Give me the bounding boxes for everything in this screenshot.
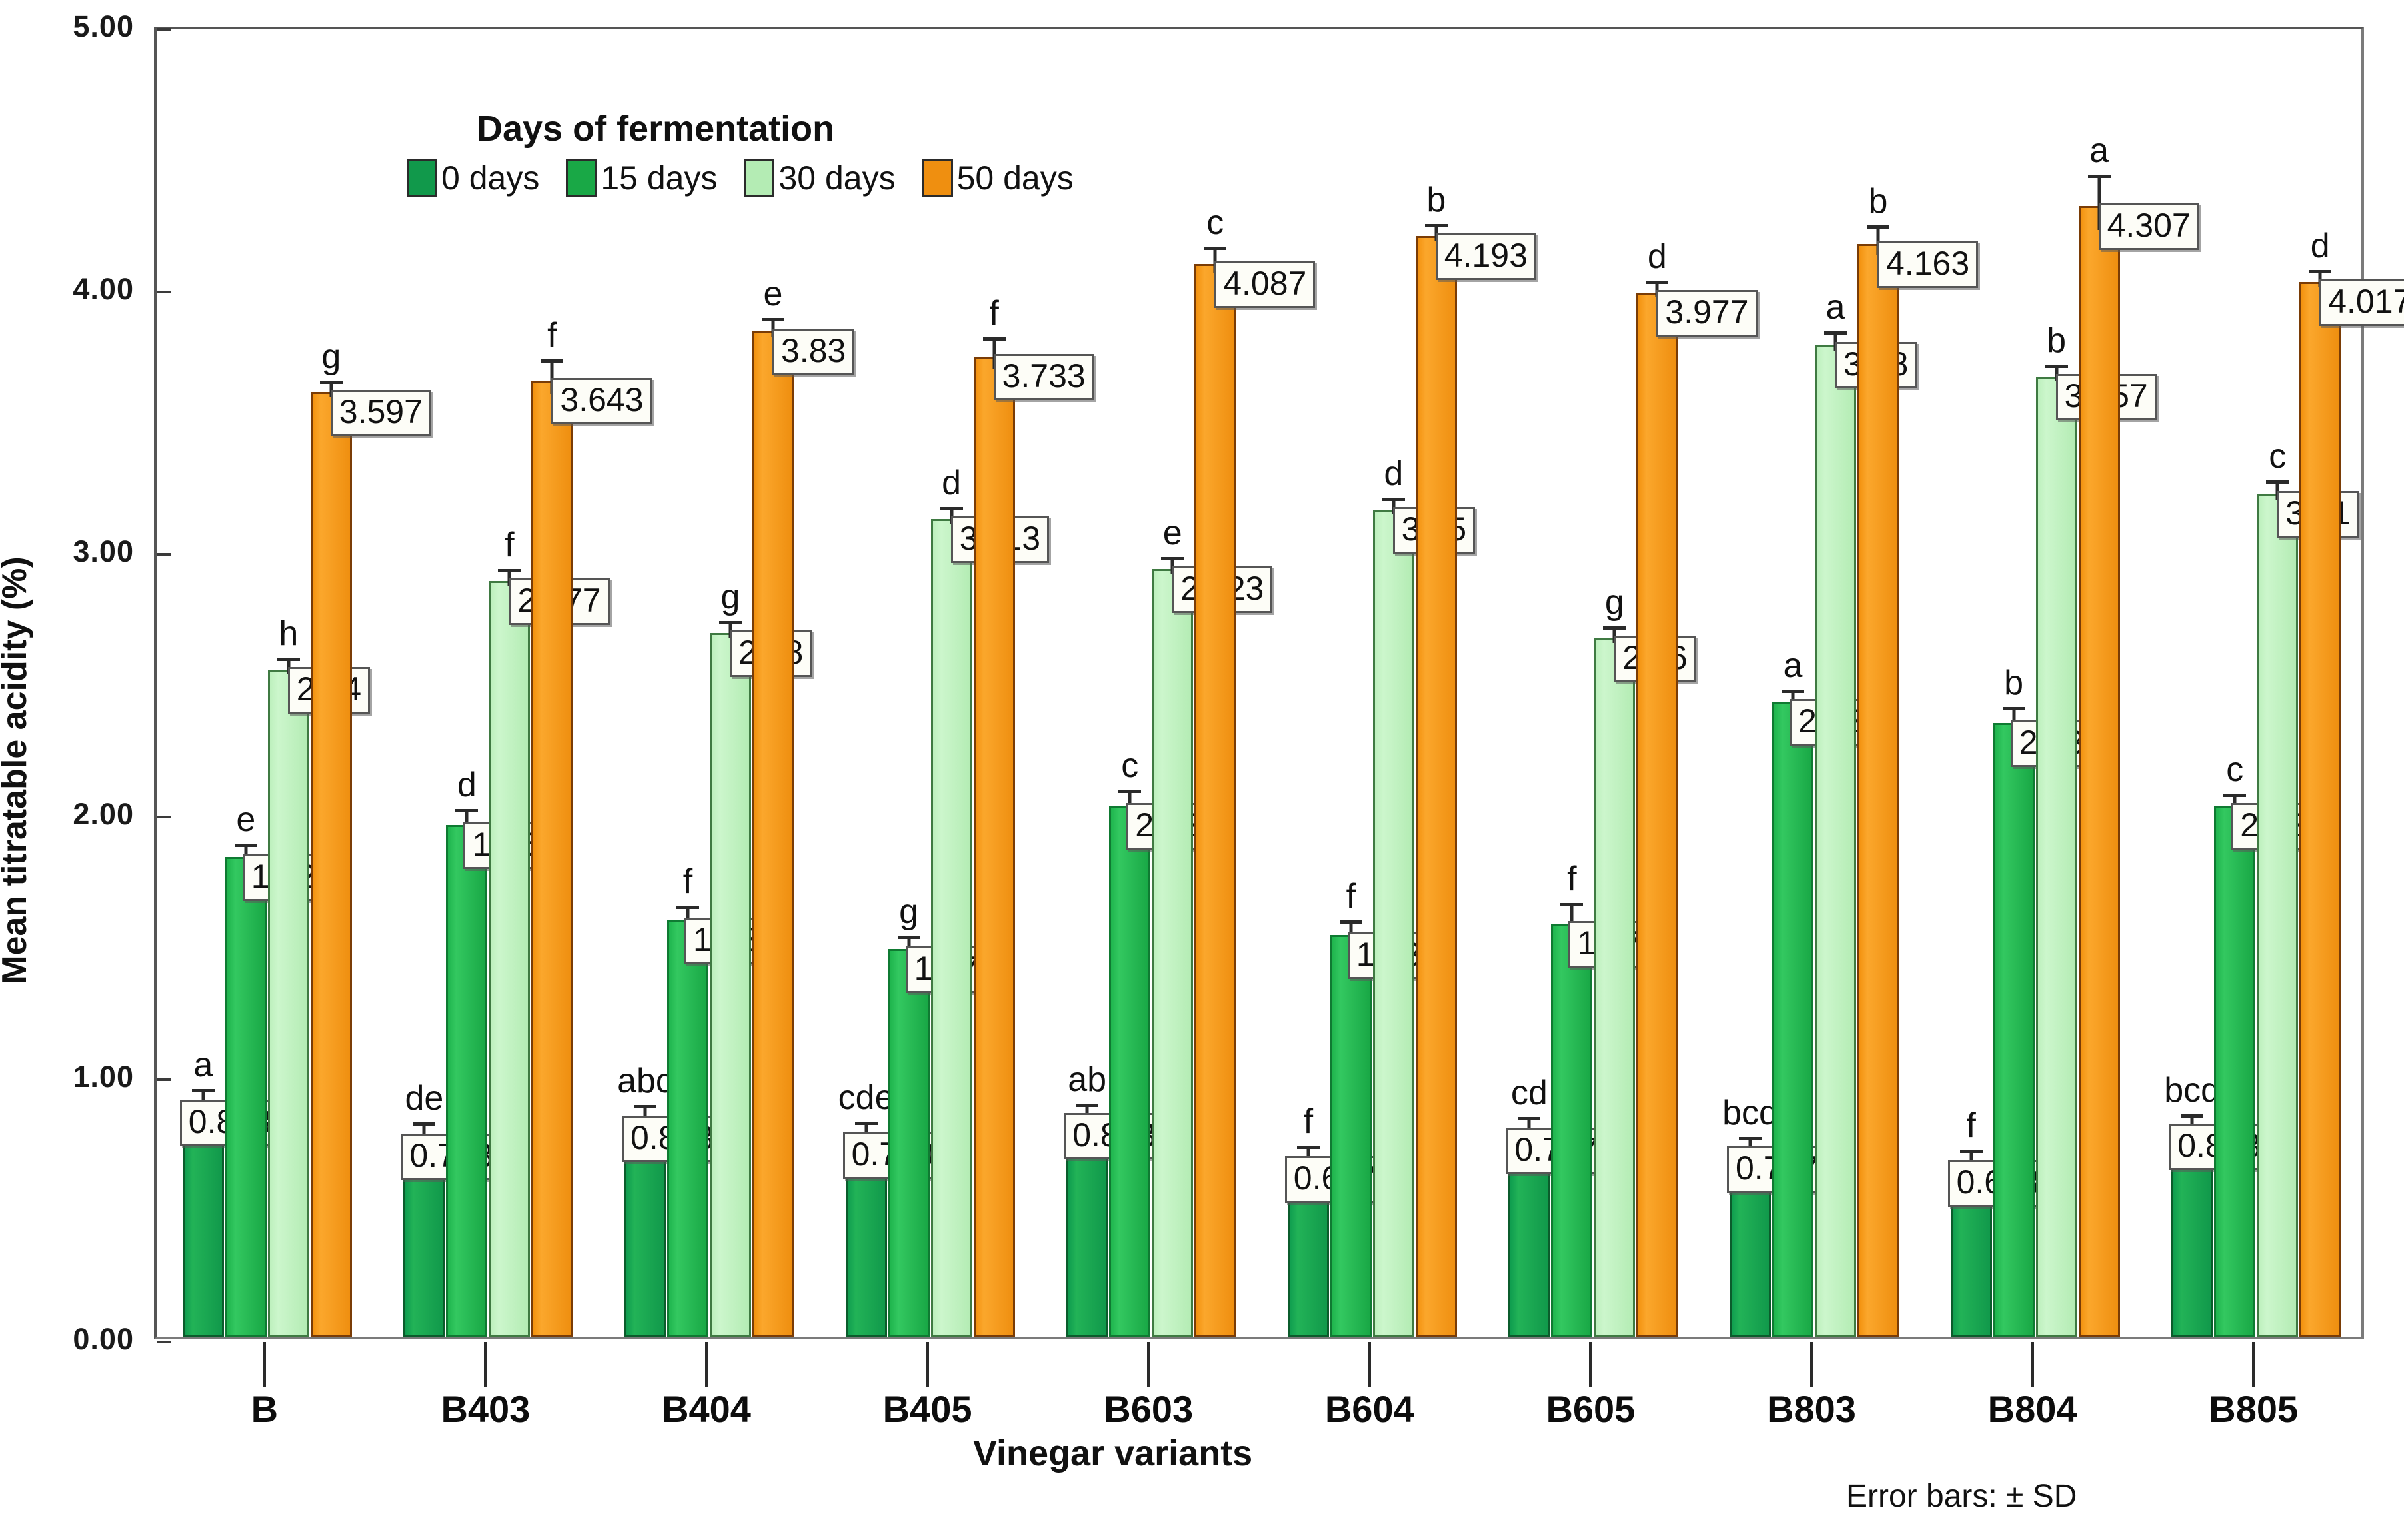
bar-b604-15-days[interactable] (1330, 935, 1372, 1337)
significance-letter: d (457, 765, 477, 805)
error-bar-cap-top (1646, 281, 1668, 284)
error-bar-cap-top (1382, 498, 1405, 501)
bar-b803-15-days[interactable] (1772, 702, 1813, 1337)
bar-b805-30-days[interactable] (2257, 494, 2298, 1337)
error-bar-cap-top (2003, 707, 2025, 710)
significance-letter: de (405, 1078, 443, 1118)
significance-letter: b (1426, 180, 1446, 220)
significance-letter: e (236, 800, 255, 840)
bar-b403-50-days[interactable] (531, 381, 573, 1337)
error-bar-cap-top (634, 1105, 656, 1108)
y-tick-mark (157, 1341, 171, 1343)
significance-letter: f (989, 293, 998, 333)
bar-group-b605: cd0.787f1.573g2.66d3.977 (1508, 29, 1678, 1337)
bar-group-b805: bcd0.803c2.023c3.21d4.017 (2171, 29, 2341, 1337)
significance-letter: g (721, 577, 740, 617)
error-bar-cap-top (1161, 557, 1184, 560)
bar-b403-30-days[interactable] (489, 581, 530, 1337)
y-tick-label: 4.00 (0, 272, 134, 307)
bar-group-b: a0.893e1.827h2.54g3.597 (183, 29, 352, 1337)
significance-letter: bcd (2164, 1070, 2220, 1110)
significance-letter: c (1206, 203, 1224, 243)
significance-letter: c (1121, 746, 1138, 786)
y-tick-label: 5.00 (0, 9, 134, 44)
bar-b405-50-days[interactable] (974, 357, 1015, 1337)
x-tick-mark (263, 1342, 266, 1387)
significance-letter: d (1648, 237, 1667, 277)
error-bar-cap-top (541, 359, 563, 363)
error-bar-cap-top (1560, 903, 1583, 906)
bar-group-b404: abc0.833f1.587g2.68e3.83 (624, 29, 794, 1337)
error-bar-cap-top (719, 621, 742, 624)
error-bar-cap-top (1204, 247, 1226, 250)
error-bar-cap-top (2088, 175, 2111, 178)
significance-letter: f (1346, 876, 1356, 916)
significance-letter: g (899, 892, 918, 932)
x-tick-mark (705, 1342, 708, 1387)
x-tick-mark (1810, 1342, 1813, 1387)
error-bar-cap-top (898, 936, 920, 939)
x-tick-mark (1368, 1342, 1371, 1387)
significance-letter: f (683, 862, 692, 902)
bar-b603-30-days[interactable] (1152, 569, 1193, 1337)
bar-b805-50-days[interactable] (2299, 282, 2341, 1337)
bar-b404-30-days[interactable] (710, 633, 751, 1337)
significance-letter: a (1826, 287, 1845, 327)
x-tick-mark (1589, 1342, 1592, 1387)
x-tick-label-b805: B805 (2209, 1387, 2298, 1431)
y-axis-title: Mean titratable acidity (%) (0, 556, 35, 984)
x-tick-mark (926, 1342, 929, 1387)
significance-letter: f (505, 525, 514, 565)
significance-letter: f (1966, 1106, 1975, 1146)
error-bar-cap-top (1425, 224, 1448, 227)
error-bar-cap-top (855, 1122, 878, 1125)
value-label: 3.83 (772, 329, 854, 375)
significance-letter: f (547, 315, 557, 355)
x-tick-mark (484, 1342, 487, 1387)
significance-letter: h (279, 614, 298, 654)
significance-letter: f (1304, 1102, 1313, 1142)
significance-letter: d (1384, 454, 1403, 494)
bar-b605-15-days[interactable] (1551, 924, 1592, 1337)
bar-b405-30-days[interactable] (931, 519, 972, 1337)
significance-letter: bcd (1722, 1093, 1778, 1133)
error-bar-cap-top (320, 381, 343, 384)
bar-b-15-days[interactable] (225, 857, 267, 1337)
bar-b403-15-days[interactable] (446, 825, 487, 1337)
significance-letter: b (2004, 663, 2023, 703)
significance-letter: e (764, 274, 783, 314)
x-tick-label-b605: B605 (1546, 1387, 1635, 1431)
bar-b603-50-days[interactable] (1194, 264, 1236, 1337)
bar-b-30-days[interactable] (268, 670, 309, 1337)
significance-letter: g (1605, 582, 1624, 622)
bar-b405-15-days[interactable] (888, 949, 930, 1337)
error-bar-cap-top (235, 844, 257, 847)
significance-letter: cde (838, 1078, 894, 1118)
significance-letter: b (2047, 321, 2066, 361)
bar-b604-50-days[interactable] (1416, 236, 1457, 1337)
significance-letter: a (2089, 131, 2109, 171)
error-bar-cap-top (1960, 1150, 1983, 1153)
significance-letter: a (193, 1045, 213, 1085)
error-bar-cap-top (1518, 1117, 1540, 1120)
bars-layer: a0.893e1.827h2.54g3.597de0.763d1.95f2.87… (157, 29, 2361, 1337)
bar-group-b604: f0.677f1.53d3.15b4.193 (1288, 29, 1457, 1337)
y-tick-label: 2.00 (0, 797, 134, 832)
error-bar-cap-top (413, 1122, 435, 1126)
error-bar-cap-top (940, 507, 963, 510)
x-axis-title: Vinegar variants (973, 1433, 1252, 1474)
y-tick-label: 0.00 (0, 1322, 134, 1357)
x-tick-label-b403: B403 (441, 1387, 530, 1431)
error-bar-cap-top (1118, 790, 1141, 793)
error-bar-cap-top (762, 318, 784, 321)
bar-group-b405: cde0.770g1.477d3.113f3.733 (846, 29, 1015, 1337)
bar-b-50-days[interactable] (311, 392, 352, 1337)
bar-group-b804: f0.663b2.337b3.657a4.307 (1951, 29, 2120, 1337)
error-bar-cap-top (1824, 331, 1847, 335)
error-bar-cap-top (1867, 225, 1889, 229)
bar-group-b603: ab0.843c2.023e2.923c4.087 (1066, 29, 1236, 1337)
error-bar-cap-top (2223, 794, 2246, 797)
significance-letter: cd (1511, 1073, 1548, 1113)
error-bar-cap-top (455, 809, 478, 812)
x-tick-label-b: B (251, 1387, 278, 1431)
significance-letter: abc (617, 1061, 673, 1101)
significance-letter: b (1869, 181, 1888, 221)
error-bar-cap-top (2309, 270, 2331, 273)
error-bar-cap-top (1782, 690, 1804, 693)
bar-b805-15-days[interactable] (2214, 806, 2255, 1337)
bar-b804-15-days[interactable] (1993, 723, 2035, 1337)
bar-b804-30-days[interactable] (2036, 377, 2077, 1337)
significance-letter: f (1567, 859, 1576, 899)
x-tick-label-b603: B603 (1104, 1387, 1193, 1431)
significance-letter: g (321, 337, 341, 377)
bar-group-b403: de0.763d1.95f2.877f3.643 (403, 29, 573, 1337)
x-tick-mark (2252, 1342, 2255, 1387)
error-bar-cap-top (1340, 920, 1362, 924)
bar-b803-50-days[interactable] (1857, 244, 1899, 1337)
error-bar-cap-top (1297, 1146, 1320, 1149)
error-bar-cap-top (2045, 365, 2068, 368)
bar-b605-30-days[interactable] (1594, 638, 1635, 1337)
error-bar-cap-top (676, 906, 699, 909)
error-bar-cap-top (2266, 480, 2289, 484)
significance-letter: d (942, 463, 961, 503)
chart-canvas: Mean titratable acidity (%) Days of ferm… (0, 0, 2404, 1540)
significance-letter: e (1163, 513, 1182, 553)
x-tick-label-b405: B405 (883, 1387, 972, 1431)
error-bar-cap-top (498, 569, 521, 572)
error-bar-cap-top (983, 337, 1006, 341)
significance-letter: ab (1068, 1060, 1106, 1100)
y-tick-label: 3.00 (0, 534, 134, 569)
x-tick-label-b804: B804 (1988, 1387, 2077, 1431)
error-bar-note: Error bars: ± SD (1846, 1478, 2077, 1515)
significance-letter: c (2269, 436, 2286, 476)
x-tick-mark (2031, 1342, 2034, 1387)
bar-b803-30-days[interactable] (1815, 345, 1856, 1337)
value-label: 4.017 (2319, 279, 2404, 326)
bar-b404-50-days[interactable] (752, 331, 794, 1337)
y-tick-label: 1.00 (0, 1060, 134, 1094)
significance-letter: a (1784, 646, 1803, 686)
bar-b604-30-days[interactable] (1373, 510, 1414, 1337)
error-bar-cap-top (2181, 1114, 2203, 1118)
bar-b605-50-days[interactable] (1636, 293, 1678, 1337)
error-bar-cap-top (192, 1089, 215, 1092)
error-bar-cap-top (277, 658, 300, 661)
error-bar-cap-top (1076, 1104, 1098, 1107)
x-tick-label-b404: B404 (662, 1387, 751, 1431)
bar-b404-15-days[interactable] (667, 920, 708, 1337)
error-bar-cap-top (1603, 626, 1626, 630)
x-tick-label-b604: B604 (1325, 1387, 1414, 1431)
x-tick-label-b803: B803 (1767, 1387, 1856, 1431)
bar-group-b803: bcd0.717a2.42a3.78b4.163 (1730, 29, 1899, 1337)
bar-b603-15-days[interactable] (1109, 806, 1150, 1337)
x-tick-mark (1147, 1342, 1150, 1387)
significance-letter: c (2226, 750, 2243, 790)
plot-area: Days of fermentation 0 days15 days30 day… (154, 27, 2364, 1339)
bar-b804-50-days[interactable] (2079, 206, 2120, 1337)
significance-letter: d (2311, 226, 2330, 266)
error-bar-cap-top (1739, 1137, 1762, 1140)
